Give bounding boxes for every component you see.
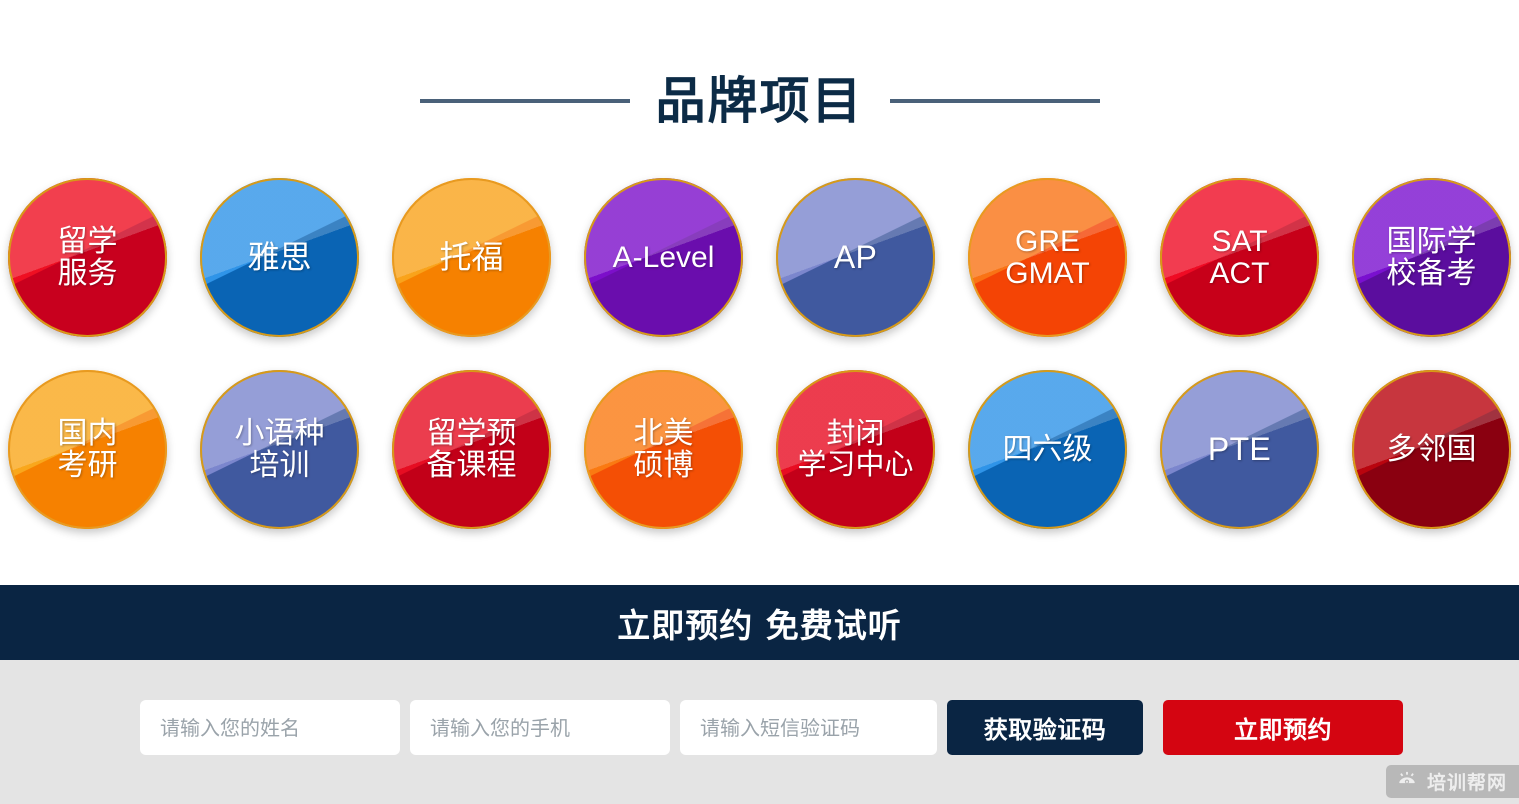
- program-bubble-label: A-Level: [611, 242, 717, 273]
- program-bubble-liuxue-fuwu[interactable]: 留学 服务: [8, 178, 167, 337]
- program-bubble-label: 小语种 培训: [233, 418, 327, 480]
- program-bubble-guonei-kaoyan[interactable]: 国内 考研: [8, 370, 167, 529]
- cta-banner-title: 立即预约 免费试听: [617, 599, 902, 647]
- brand-programs-page: 品牌项目 留学 服务雅思托福A-LevelAPGRE GMATSAT ACT国际…: [0, 0, 1519, 804]
- program-bubble-fengbi-xuexi-zhongxin[interactable]: 封闭 学习中心: [776, 370, 935, 529]
- program-bubble-label: 托福: [437, 241, 505, 274]
- program-bubble-label: 留学 服务: [56, 226, 120, 288]
- watermark-label: 培训帮网: [1427, 768, 1507, 795]
- program-bubble-duolinguo[interactable]: 多邻国: [1352, 370, 1511, 529]
- program-bubble-siliuji[interactable]: 四六级: [968, 370, 1127, 529]
- submit-booking-button[interactable]: 立即预约: [1163, 700, 1403, 755]
- program-grid: 留学 服务雅思托福A-LevelAPGRE GMATSAT ACT国际学 校备考…: [0, 178, 1519, 562]
- program-bubble-label: AP: [832, 241, 879, 274]
- program-bubble-label: GRE GMAT: [1003, 226, 1091, 288]
- program-bubble-label: SAT ACT: [1208, 226, 1272, 288]
- program-bubble-pte[interactable]: PTE: [1160, 370, 1319, 529]
- program-row-1: 留学 服务雅思托福A-LevelAPGRE GMATSAT ACT国际学 校备考: [0, 178, 1519, 337]
- program-bubble-guoji-xuexiao-beikao[interactable]: 国际学 校备考: [1352, 178, 1511, 337]
- booking-form: 获取验证码 立即预约: [140, 700, 1403, 755]
- program-bubble-liuxue-yubei-kecheng[interactable]: 留学预 备课程: [392, 370, 551, 529]
- name-input[interactable]: [140, 700, 400, 755]
- sms-code-input[interactable]: [680, 700, 937, 755]
- header-rule-left: [420, 99, 630, 103]
- program-row-2: 国内 考研小语种 培训留学预 备课程北美 硕博封闭 学习中心四六级PTE多邻国: [0, 370, 1519, 529]
- program-bubble-gre-gmat[interactable]: GRE GMAT: [968, 178, 1127, 337]
- program-bubble-label: 封闭 学习中心: [795, 419, 915, 479]
- section-header: 品牌项目: [0, 62, 1519, 140]
- program-bubble-a-level[interactable]: A-Level: [584, 178, 743, 337]
- program-bubble-label: PTE: [1206, 433, 1273, 466]
- program-bubble-label: 留学预 备课程: [425, 418, 519, 480]
- site-watermark: 培训帮网: [1386, 765, 1519, 798]
- program-bubble-label: 四六级: [1001, 434, 1095, 465]
- page-title: 品牌项目: [656, 76, 864, 126]
- phone-input[interactable]: [410, 700, 670, 755]
- program-bubble-label: 北美 硕博: [632, 418, 696, 480]
- program-bubble-tuofu[interactable]: 托福: [392, 178, 551, 337]
- program-bubble-label: 国际学 校备考: [1385, 226, 1479, 288]
- program-bubble-label: 多邻国: [1385, 434, 1479, 465]
- program-bubble-label: 国内 考研: [56, 418, 120, 480]
- booking-form-strip: 获取验证码 立即预约 培训帮网: [0, 660, 1519, 804]
- get-verification-code-button[interactable]: 获取验证码: [947, 700, 1143, 755]
- program-bubble-beimei-shuobo[interactable]: 北美 硕博: [584, 370, 743, 529]
- program-bubble-ap[interactable]: AP: [776, 178, 935, 337]
- program-bubble-yasi[interactable]: 雅思: [200, 178, 359, 337]
- program-bubble-xiaoyuzhong-peixun[interactable]: 小语种 培训: [200, 370, 359, 529]
- cta-banner: 立即预约 免费试听: [0, 585, 1519, 660]
- sun-eye-icon: [1396, 771, 1418, 793]
- program-bubble-label: 雅思: [245, 241, 313, 274]
- program-bubble-sat-act[interactable]: SAT ACT: [1160, 178, 1319, 337]
- header-rule-right: [890, 99, 1100, 103]
